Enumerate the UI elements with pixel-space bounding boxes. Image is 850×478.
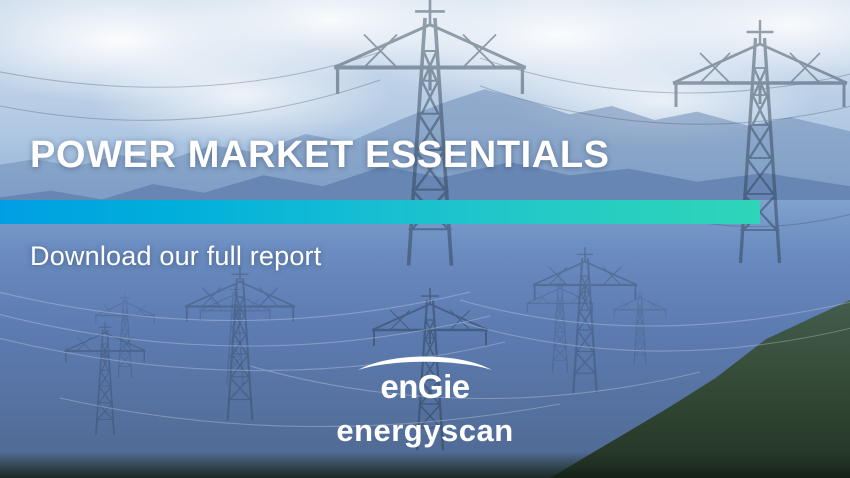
logo-lockup: enGie energyscan <box>0 352 850 447</box>
engie-wordmark: enGie <box>0 370 850 405</box>
bottom-treeline <box>0 452 850 478</box>
accent-gradient-bar <box>0 200 760 224</box>
subtitle-download-report: Download our full report <box>30 241 321 272</box>
energyscan-wordmark: energyscan <box>0 415 850 448</box>
promo-banner: POWER MARKET ESSENTIALS Download our ful… <box>0 0 850 478</box>
page-title: POWER MARKET ESSENTIALS <box>30 134 610 177</box>
